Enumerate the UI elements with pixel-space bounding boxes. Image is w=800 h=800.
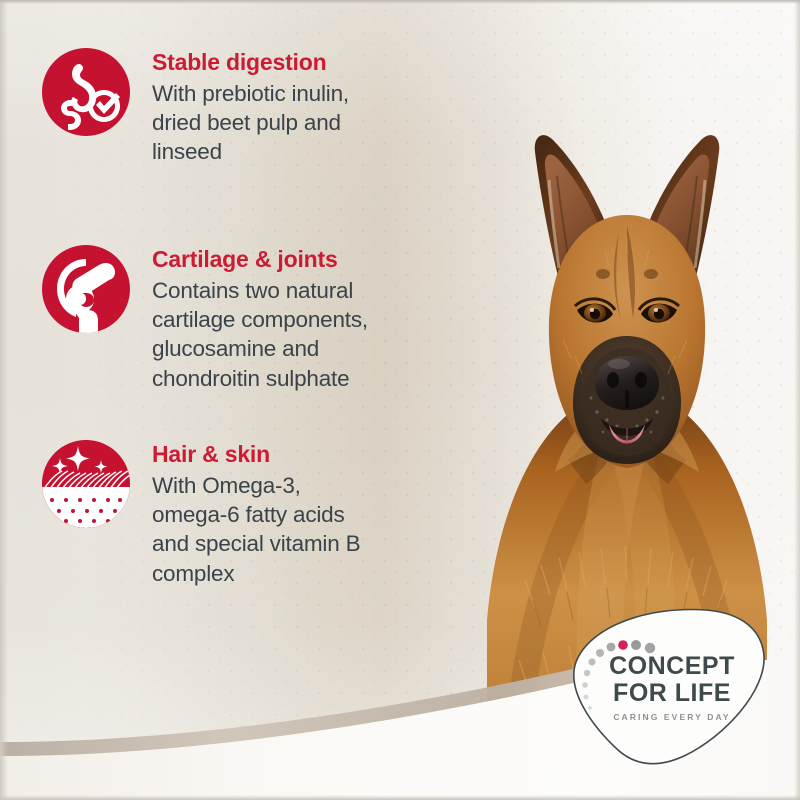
feature-body: With prebiotic inulin, dried beet pulp a… <box>152 79 349 167</box>
feature-body: With Omega-3, omega-6 fatty acids and sp… <box>152 471 360 588</box>
edge-shadow-bottom <box>0 795 800 800</box>
logo-dot-arc-dots <box>582 640 655 710</box>
feature-heading: Cartilage & joints <box>152 247 368 273</box>
feature-text-block: Cartilage & joints Contains two natural … <box>152 245 368 393</box>
edge-shadow-left <box>0 0 8 800</box>
knee-joint-cartilage-icon <box>42 245 130 333</box>
logo-dot-arc <box>556 604 768 772</box>
feature-body: Contains two natural cartilage component… <box>152 276 368 393</box>
edge-shadow-right <box>794 0 800 800</box>
stomach-digestion-check-icon <box>42 48 130 136</box>
edge-shadow-top <box>0 0 800 4</box>
feature-text-block: Hair & skin With Omega-3, omega-6 fatty … <box>152 440 360 588</box>
feature-text-block: Stable digestion With prebiotic inulin, … <box>152 48 349 167</box>
feature-item-cartilage-joints: Cartilage & joints Contains two natural … <box>42 245 368 393</box>
promo-banner: Stable digestion With prebiotic inulin, … <box>0 0 800 800</box>
brand-logo-badge: CONCEPT FOR LIFE CARING EVERY DAY <box>556 604 768 772</box>
hair-skin-sparkle-icon <box>42 440 130 528</box>
feature-heading: Stable digestion <box>152 50 349 76</box>
feature-heading: Hair & skin <box>152 442 360 468</box>
feature-item-hair-skin: Hair & skin With Omega-3, omega-6 fatty … <box>42 440 360 588</box>
feature-item-stable-digestion: Stable digestion With prebiotic inulin, … <box>42 48 349 167</box>
